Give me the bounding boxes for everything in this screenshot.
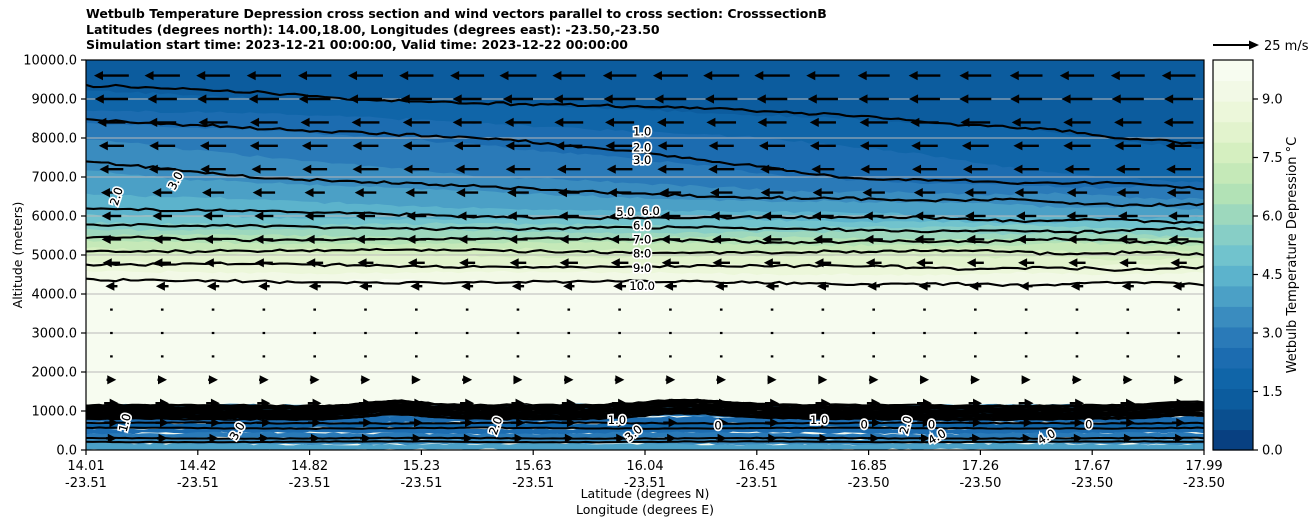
colorbar-tick-label: 4.5 (1262, 268, 1283, 283)
wind-vector-dot (923, 309, 926, 311)
wind-vector-dot (517, 355, 520, 357)
wind-vector-dot (1177, 355, 1180, 357)
svg-text:0: 0 (1085, 418, 1092, 432)
y-tick-label: 4000.0 (32, 288, 78, 303)
wind-vector-dot (517, 309, 520, 311)
wind-vector-dot (110, 332, 113, 334)
x-tick-label-longitude: -23.50 (1183, 476, 1225, 491)
wind-vector-dot (1025, 309, 1028, 311)
wind-vector-dot (313, 332, 316, 334)
wind-vector-dot (1177, 309, 1180, 311)
wind-vector-dot (415, 355, 418, 357)
x-axis-label-latitude: Latitude (degrees N) (581, 486, 710, 501)
y-tick-label: 6000.0 (32, 210, 78, 225)
wind-vector-dot (618, 309, 621, 311)
colorbar-swatch (1213, 409, 1253, 430)
wind-vector-dot (1025, 332, 1028, 334)
contour-label: 1.01.0 (810, 413, 828, 427)
wind-vector-dot (466, 355, 469, 357)
wind-vector-dot (669, 355, 672, 357)
colorbar-swatch (1213, 429, 1253, 450)
wind-vector-dot (1126, 332, 1129, 334)
contour-label: 7.07.0 (633, 233, 651, 247)
wind-vector-dot (517, 332, 520, 334)
colorbar-swatch (1213, 122, 1253, 143)
x-tick-label-longitude: -23.51 (400, 476, 442, 491)
x-axis-ticks: 14.01-23.5114.42-23.5114.82-23.5115.23-2… (65, 450, 1225, 491)
colorbar-tick-label: 6.0 (1262, 210, 1283, 225)
svg-text:1.0: 1.0 (633, 125, 651, 139)
svg-text:7.0: 7.0 (633, 233, 651, 247)
colorbar[interactable] (1213, 60, 1253, 451)
wind-vector-dot (161, 355, 164, 357)
wind-vector-dot (161, 309, 164, 311)
wind-vector-dot (212, 355, 215, 357)
svg-text:1.0: 1.0 (810, 413, 828, 427)
x-tick-label-latitude: 14.42 (179, 459, 216, 474)
wind-vector-dot (415, 332, 418, 334)
colorbar-label: Wetbulb Temperature Depression °C (1285, 137, 1300, 374)
svg-text:6.0: 6.0 (641, 204, 659, 218)
wind-vector-dot (974, 355, 977, 357)
wind-vector-dot (1076, 309, 1079, 311)
contour-label: 1.01.0 (608, 413, 626, 427)
wind-vector-dot (771, 309, 774, 311)
y-axis-label: Altitude (meters) (10, 202, 25, 309)
x-tick-label-longitude: -23.51 (736, 476, 778, 491)
title-line-2: Latitudes (degrees north): 14.00,18.00, … (86, 22, 827, 38)
wind-vector-dot (822, 309, 825, 311)
contour-label: 8.08.0 (633, 247, 651, 261)
wind-vector-dot (974, 332, 977, 334)
wind-vector-dot (923, 355, 926, 357)
y-tick-label: 2000.0 (32, 366, 78, 381)
wind-vector-dot (872, 309, 875, 311)
wind-vector-dot (872, 332, 875, 334)
wind-vector-dot (720, 355, 723, 357)
svg-text:1.0: 1.0 (608, 413, 626, 427)
surface-contour-line (86, 422, 1204, 424)
wind-vector-dot (720, 309, 723, 311)
svg-text:0: 0 (714, 419, 721, 433)
wind-vector-dot (364, 309, 367, 311)
y-tick-label: 1000.0 (32, 405, 78, 420)
svg-text:6.0: 6.0 (633, 219, 651, 233)
wind-vector-dot (212, 332, 215, 334)
svg-text:3.0: 3.0 (633, 153, 651, 167)
x-tick-label-latitude: 16.85 (850, 459, 887, 474)
wind-vector-dot (1177, 332, 1180, 334)
colorbar-tick-label: 7.5 (1262, 151, 1283, 166)
wind-vector-dot (364, 332, 367, 334)
y-tick-label: 7000.0 (32, 171, 78, 186)
wind-vector-dot (669, 309, 672, 311)
wind-vector-dot (567, 355, 570, 357)
wind-vector-dot (771, 355, 774, 357)
x-tick-label-latitude: 17.67 (1074, 459, 1111, 474)
wind-vector-dot (1076, 355, 1079, 357)
wind-vector-dot (313, 355, 316, 357)
svg-text:10.0: 10.0 (629, 279, 655, 293)
figure-title: Wetbulb Temperature Depression cross sec… (86, 6, 827, 53)
wind-vector-dot (161, 332, 164, 334)
svg-text:8.0: 8.0 (633, 247, 651, 261)
wind-vector-dot (1126, 309, 1129, 311)
wind-vector-dot (923, 332, 926, 334)
colorbar-tick-label: 3.0 (1262, 327, 1283, 342)
svg-text:5.0: 5.0 (616, 205, 634, 219)
figure-root: Wetbulb Temperature Depression cross sec… (0, 0, 1312, 526)
colorbar-swatch (1213, 101, 1253, 122)
cross-section-plot: 2.02.03.03.01.01.02.02.03.03.05.05.06.06… (0, 0, 1312, 526)
y-tick-label: 8000.0 (32, 132, 78, 147)
wind-vector-dot (466, 332, 469, 334)
surface-contour-line (86, 441, 1204, 442)
y-tick-label: 5000.0 (32, 249, 78, 264)
wind-vector-dot (1025, 355, 1028, 357)
colorbar-swatch (1213, 183, 1253, 204)
wind-vector-dot (466, 309, 469, 311)
colorbar-tick-label: 9.0 (1262, 93, 1283, 108)
wind-vector-dot (872, 355, 875, 357)
wind-vector-dot (822, 332, 825, 334)
colorbar-swatch (1213, 286, 1253, 307)
colorbar-tick-label: 1.5 (1262, 385, 1283, 400)
y-tick-label: 9000.0 (32, 93, 78, 108)
x-tick-label-longitude: -23.50 (848, 476, 890, 491)
x-tick-label-latitude: 17.26 (962, 459, 999, 474)
wind-vector-dot (263, 332, 266, 334)
colorbar-swatch (1213, 368, 1253, 389)
wind-vector-dot (1126, 355, 1129, 357)
svg-text:9.0: 9.0 (633, 261, 651, 275)
title-line-3: Simulation start time: 2023-12-21 00:00:… (86, 37, 827, 53)
x-tick-label-latitude: 15.23 (403, 459, 440, 474)
x-tick-label-latitude: 17.99 (1185, 459, 1222, 474)
x-tick-label-latitude: 14.01 (67, 459, 104, 474)
wind-vector-dot (567, 332, 570, 334)
colorbar-swatch (1213, 142, 1253, 163)
colorbar-ticks: 0.01.53.04.56.07.59.0 (1253, 93, 1283, 459)
contour-label: 5.05.0 (616, 205, 634, 219)
svg-text:0: 0 (860, 418, 867, 432)
wind-vector-dot (618, 355, 621, 357)
contour-label: 9.09.0 (633, 261, 651, 275)
x-tick-label-latitude: 15.63 (515, 459, 552, 474)
colorbar-swatch (1213, 81, 1253, 102)
x-tick-label-longitude: -23.51 (512, 476, 554, 491)
y-tick-label: 0.0 (56, 444, 77, 459)
wind-vector-dot (110, 355, 113, 357)
right-arrow-icon (1249, 41, 1259, 50)
colorbar-swatch (1213, 388, 1253, 409)
wind-vector-dot (771, 332, 774, 334)
wind-vector-dot (364, 355, 367, 357)
wind-vector-dot (212, 309, 215, 311)
x-tick-label-longitude: -23.50 (1071, 476, 1113, 491)
colorbar-swatch (1213, 306, 1253, 327)
wind-vector-dot (263, 355, 266, 357)
colorbar-swatch (1213, 224, 1253, 245)
x-tick-label-longitude: -23.51 (289, 476, 331, 491)
wind-key-label: 25 m/s (1264, 39, 1309, 54)
y-tick-label: 10000.0 (23, 54, 77, 69)
colorbar-swatch (1213, 265, 1253, 286)
title-line-1: Wetbulb Temperature Depression cross sec… (86, 6, 827, 22)
x-tick-label-longitude: -23.51 (177, 476, 219, 491)
wind-vector-dot (263, 309, 266, 311)
contour-label: 6.06.0 (633, 219, 651, 233)
contour-label: 6.06.0 (641, 204, 659, 218)
contour-label: 00 (714, 419, 721, 433)
x-tick-label-longitude: -23.51 (65, 476, 107, 491)
wind-vector-dot (567, 309, 570, 311)
colorbar-swatch (1213, 163, 1253, 184)
colorbar-swatch (1213, 347, 1253, 368)
colorbar-swatch (1213, 204, 1253, 225)
colorbar-swatch (1213, 245, 1253, 266)
x-tick-label-latitude: 16.45 (738, 459, 775, 474)
x-tick-label-latitude: 16.04 (626, 459, 663, 474)
contour-label: 10.010.0 (629, 279, 655, 293)
wind-vector-dot (110, 309, 113, 311)
colorbar-swatch (1213, 327, 1253, 348)
wind-vector-dot (669, 332, 672, 334)
x-axis-label-longitude: Longitude (degrees E) (576, 502, 714, 517)
contour-label: 1.01.0 (633, 125, 651, 139)
wind-vector-dot (313, 309, 316, 311)
x-tick-label-latitude: 14.82 (291, 459, 328, 474)
contour-label: 00 (860, 418, 867, 432)
colorbar-tick-label: 0.0 (1262, 444, 1283, 459)
wind-vector-dot (822, 355, 825, 357)
wind-vector-dot (618, 332, 621, 334)
wind-key: 25 m/s (1213, 39, 1309, 54)
colorbar-swatch (1213, 60, 1253, 81)
x-tick-label-longitude: -23.50 (959, 476, 1001, 491)
y-tick-label: 3000.0 (32, 327, 78, 342)
wind-vector-dot (974, 309, 977, 311)
y-axis-ticks: 0.01000.02000.03000.04000.05000.06000.07… (23, 54, 86, 459)
wind-vector-dot (720, 332, 723, 334)
wind-vector-dot (1076, 332, 1079, 334)
contour-label: 00 (1085, 418, 1092, 432)
contour-label: 3.03.0 (633, 153, 651, 167)
wind-vector-dot (415, 309, 418, 311)
